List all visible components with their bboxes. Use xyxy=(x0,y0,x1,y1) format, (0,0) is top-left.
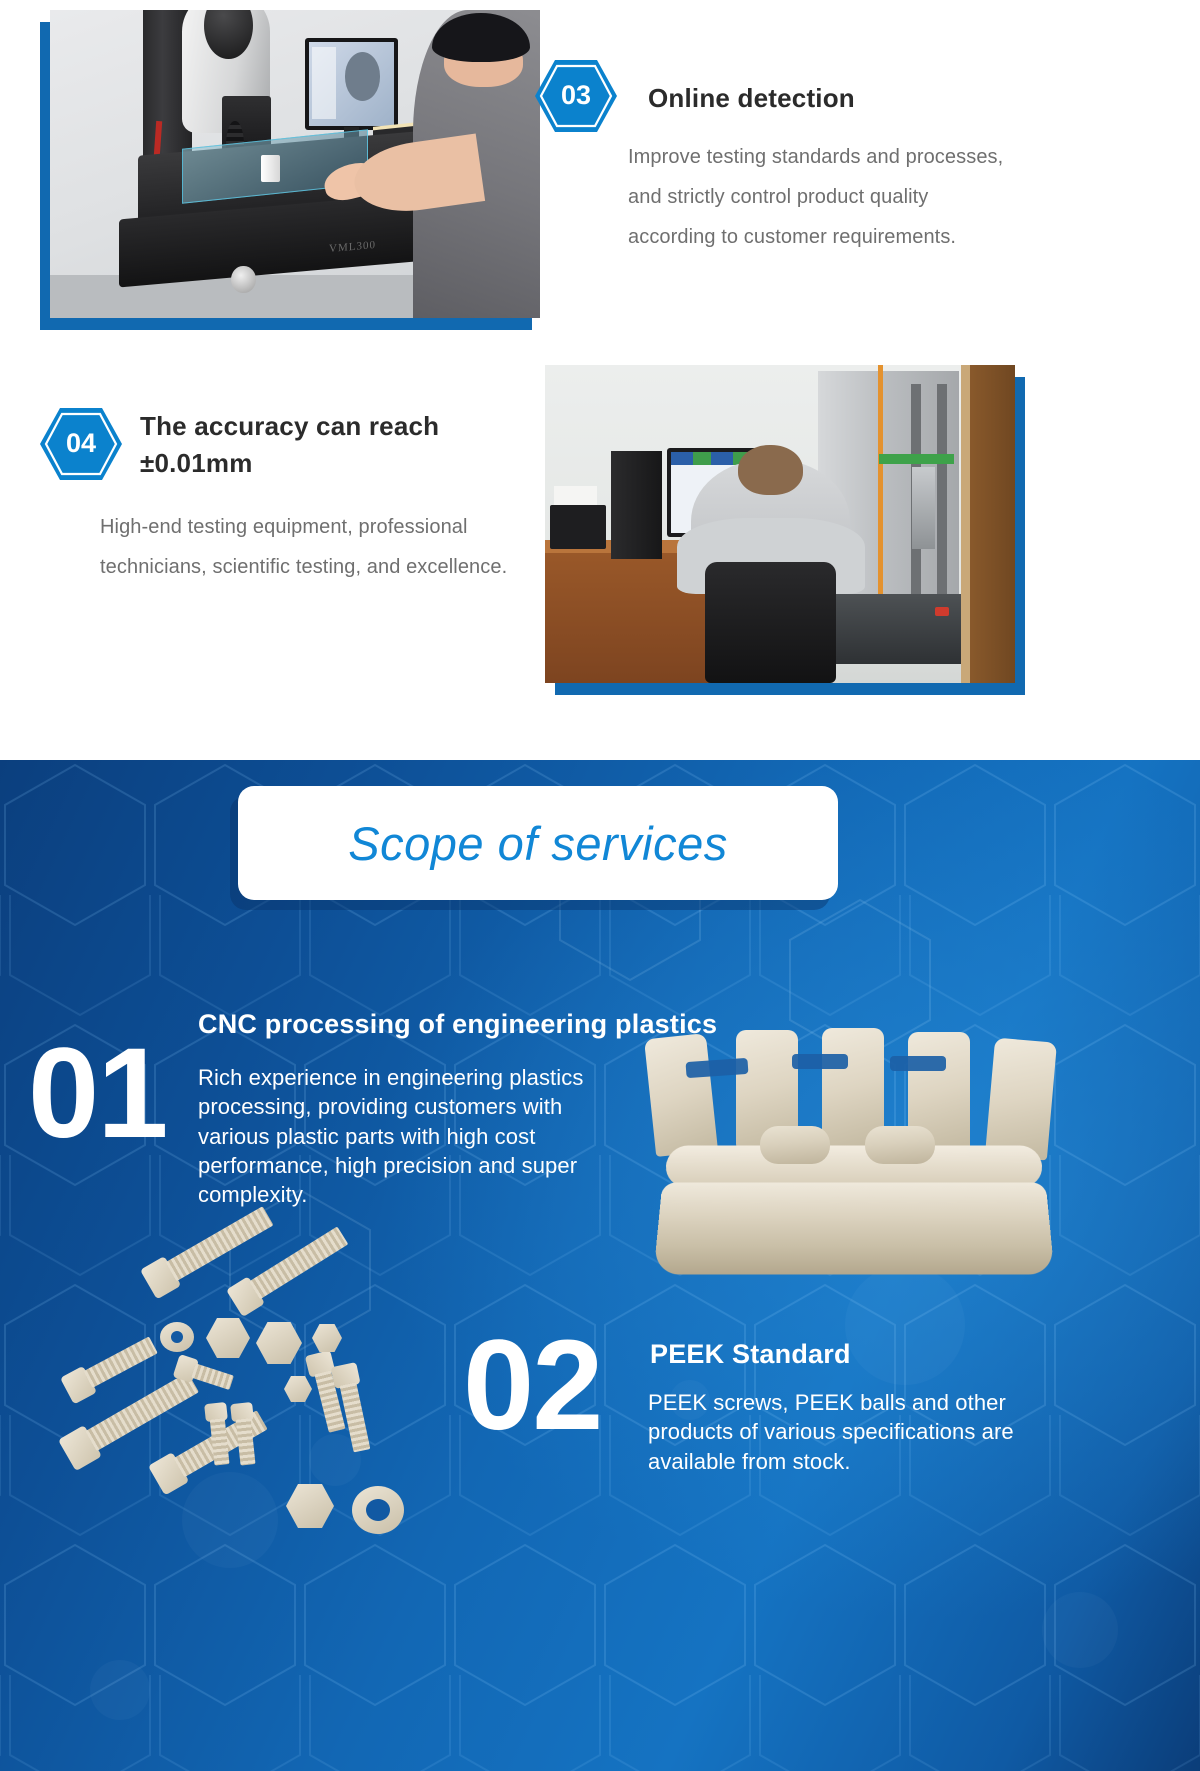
photo-tensile-testing-machine xyxy=(545,365,1015,683)
image-peek-fasteners xyxy=(30,1270,460,1570)
service-body-peek-standard: PEEK screws, PEEK balls and other produc… xyxy=(648,1388,1028,1476)
section-heading-pill: Scope of services xyxy=(238,786,838,900)
step-badge-number: 03 xyxy=(533,58,619,134)
photo-optical-measuring-machine: VML300 xyxy=(50,10,540,318)
step-badge-number: 04 xyxy=(38,406,124,482)
service-title-peek-standard: PEEK Standard xyxy=(650,1339,1070,1370)
block-title-online-detection: Online detection xyxy=(648,80,1068,117)
photo-frame-testing-lab xyxy=(545,365,1025,695)
service-number-02: 02 xyxy=(463,1322,601,1450)
service-number-01: 01 xyxy=(28,1030,166,1158)
step-badge-04: 04 xyxy=(38,406,124,482)
block-body-accuracy: High-end testing equipment, professional… xyxy=(100,507,525,587)
service-title-cnc-processing: CNC processing of engineering plastics xyxy=(198,1009,958,1040)
image-peek-machined-part xyxy=(640,1030,1060,1275)
photo-frame-online-detection: VML300 xyxy=(40,10,540,330)
detection-section: VML300 03 Online detection Improve testi… xyxy=(0,0,1200,860)
scope-of-services-section: Scope of services 01 CNC processing of e… xyxy=(0,760,1200,1771)
block-body-online-detection: Improve testing standards and processes,… xyxy=(628,137,1013,257)
block-title-accuracy: The accuracy can reach ±0.01mm xyxy=(140,408,540,482)
service-body-cnc-processing: Rich experience in engineering plastics … xyxy=(198,1063,623,1209)
infographic-page: VML300 03 Online detection Improve testi… xyxy=(0,0,1200,1771)
section-heading-text: Scope of services xyxy=(348,816,727,871)
step-badge-03: 03 xyxy=(533,58,619,134)
